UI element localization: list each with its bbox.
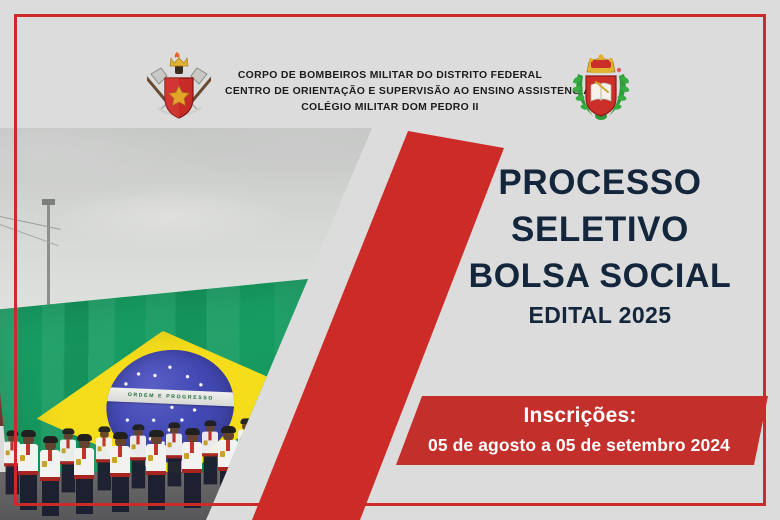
cbmdf-crest-icon — [147, 52, 211, 124]
cadet — [18, 434, 38, 510]
banner-dates: 05 de agosto a 05 de setembro 2024 — [396, 428, 768, 456]
cadet — [40, 440, 60, 516]
cadet — [146, 434, 166, 510]
title-line-3: BOLSA SOCIAL — [440, 254, 760, 300]
title-subtitle-edital: EDITAL 2025 — [440, 302, 760, 329]
header-line-1: CORPO DE BOMBEIROS MILITAR DO DISTRITO F… — [225, 68, 555, 84]
header-institution-text: CORPO DE BOMBEIROS MILITAR DO DISTRITO F… — [225, 52, 555, 115]
cadet — [202, 424, 218, 485]
cadet — [166, 426, 182, 487]
banner-label: Inscrições: — [396, 396, 768, 428]
header: CORPO DE BOMBEIROS MILITAR DO DISTRITO F… — [0, 52, 780, 128]
cadet — [110, 436, 130, 512]
cadet — [182, 432, 202, 508]
poster-root: ORDEM E PROGRESSO — [0, 0, 780, 520]
colegio-militar-dom-pedro-ii-crest-icon — [569, 52, 633, 124]
title-line-1: PROCESSO — [440, 160, 760, 207]
registration-banner: Inscrições: 05 de agosto a 05 de setembr… — [396, 396, 768, 468]
title-line-2: SELETIVO — [440, 207, 760, 254]
header-line-2: CENTRO DE ORIENTAÇÃO E SUPERVISÃO AO ENS… — [225, 84, 555, 100]
title-block: PROCESSO SELETIVO BOLSA SOCIAL EDITAL 20… — [440, 160, 760, 329]
cadet — [74, 438, 94, 514]
cadet — [218, 430, 238, 506]
header-line-3: COLÉGIO MILITAR DOM PEDRO II — [225, 100, 555, 116]
cadet — [130, 428, 146, 489]
cadet — [238, 422, 254, 483]
